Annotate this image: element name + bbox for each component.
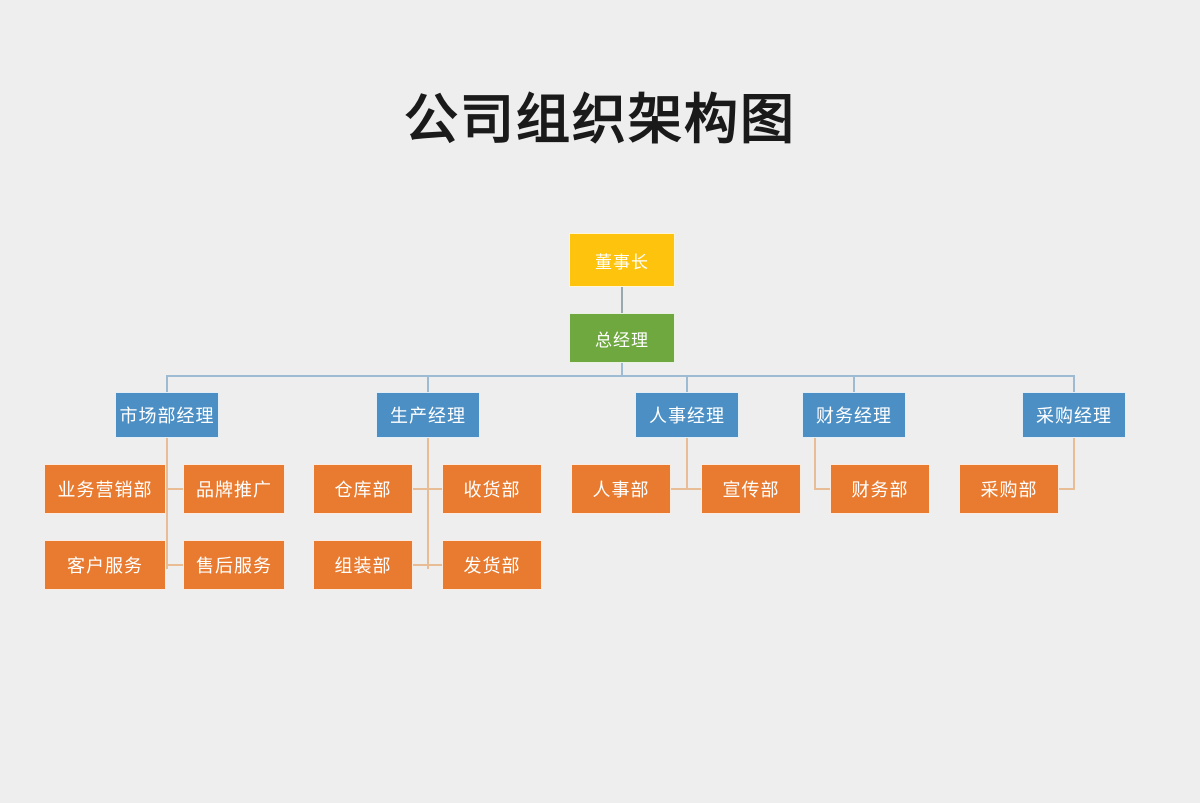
- node-dept-customer-service[interactable]: 客户服务: [44, 540, 166, 590]
- node-dept-after-sales-service[interactable]: 售后服务: [183, 540, 285, 590]
- node-dept-business-marketing[interactable]: 业务营销部: [44, 464, 166, 514]
- connector-bus-drop-finance: [853, 375, 855, 392]
- connector-stub-production-row1: [411, 488, 445, 490]
- node-dept-publicity[interactable]: 宣传部: [701, 464, 801, 514]
- node-chairman[interactable]: 董事长: [569, 233, 675, 287]
- connector-manager-bus: [167, 375, 1075, 377]
- connector-spine-finance: [814, 437, 816, 489]
- node-dept-hr[interactable]: 人事部: [571, 464, 671, 514]
- node-manager-finance[interactable]: 财务经理: [802, 392, 906, 438]
- connector-spine-production: [427, 437, 429, 569]
- node-dept-shipping[interactable]: 发货部: [442, 540, 542, 590]
- node-dept-brand-promotion[interactable]: 品牌推广: [183, 464, 285, 514]
- connector-spine-marketing: [166, 437, 168, 569]
- connector-bus-drop-marketing: [166, 375, 168, 392]
- connector-stub-production-row2: [411, 564, 445, 566]
- connector-bus-drop-hr: [686, 375, 688, 392]
- node-dept-purchasing[interactable]: 采购部: [959, 464, 1059, 514]
- org-chart-canvas: 公司组织架构图 董事长 总经理 市场部经理 生产经理 人事经理 财务经理 采购经…: [0, 0, 1200, 803]
- node-manager-marketing[interactable]: 市场部经理: [115, 392, 219, 438]
- node-general-manager[interactable]: 总经理: [569, 313, 675, 363]
- node-dept-receiving[interactable]: 收货部: [442, 464, 542, 514]
- connector-spine-purchasing: [1073, 437, 1075, 489]
- page-title: 公司组织架构图: [0, 88, 1200, 152]
- node-manager-hr[interactable]: 人事经理: [635, 392, 739, 438]
- connector-spine-hr: [686, 437, 688, 489]
- connector-bus-drop-purchasing: [1073, 375, 1075, 392]
- node-dept-assembly[interactable]: 组装部: [313, 540, 413, 590]
- connector-gm-trunk: [621, 362, 623, 376]
- node-manager-purchasing[interactable]: 采购经理: [1022, 392, 1126, 438]
- node-dept-finance[interactable]: 财务部: [830, 464, 930, 514]
- connector-stub-hr-row1: [670, 488, 704, 490]
- connector-chairman-to-gm: [621, 287, 623, 313]
- node-dept-warehouse[interactable]: 仓库部: [313, 464, 413, 514]
- node-manager-production[interactable]: 生产经理: [376, 392, 480, 438]
- connector-bus-drop-production: [427, 375, 429, 392]
